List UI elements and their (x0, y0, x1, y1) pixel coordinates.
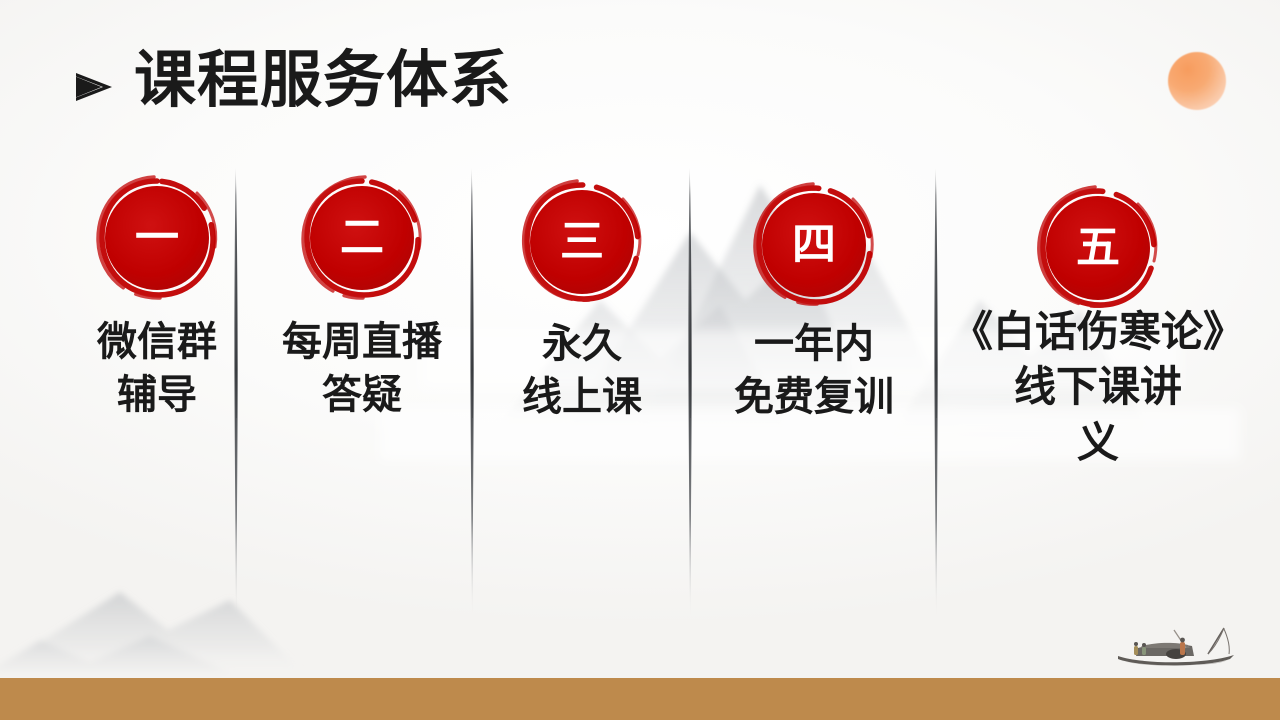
badge-wrap-4: 四 (700, 168, 928, 316)
badge-wrap-5: 五 (930, 168, 1266, 318)
service-column-2: 二 每周直播答疑 (258, 168, 466, 422)
badge-wrap-2: 二 (258, 168, 466, 308)
number-badge-1: 一 (102, 183, 212, 293)
badge-numeral-2: 二 (340, 216, 384, 260)
service-column-4: 四 一年内免费复训 (700, 168, 928, 424)
badge-numeral-4: 四 (792, 223, 836, 267)
service-label-5: 《白话伤寒论》线下课讲义 (930, 304, 1266, 470)
number-badge-4: 四 (759, 190, 869, 300)
service-column-3: 三 永久线上课 (478, 168, 686, 424)
number-badge-3: 三 (527, 187, 637, 297)
page-title-text: 课程服务体系 (134, 48, 512, 113)
page-title: 课程服务体系 (70, 48, 512, 113)
badge-numeral-5: 五 (1076, 226, 1120, 270)
footer-bar (0, 678, 1280, 720)
service-label-3: 永久线上课 (478, 318, 686, 424)
service-label-4: 一年内免费复训 (700, 318, 928, 424)
badge-numeral-1: 一 (135, 216, 179, 260)
service-columns: 一 微信群辅导 二 每周直播答疑 (0, 168, 1280, 628)
service-column-1: 一 微信群辅导 (62, 168, 252, 422)
sun-circle-icon (1168, 52, 1226, 110)
badge-wrap-1: 一 (62, 168, 252, 308)
badge-wrap-3: 三 (478, 168, 686, 316)
number-badge-5: 五 (1043, 193, 1153, 303)
number-badge-2: 二 (307, 183, 417, 293)
arrow-right-triangle-icon (70, 64, 116, 110)
slide-canvas: 课程服务体系 (0, 0, 1280, 720)
service-label-2: 每周直播答疑 (258, 316, 466, 422)
service-column-5: 五 《白话伤寒论》线下课讲义 (930, 168, 1266, 470)
service-label-1: 微信群辅导 (62, 316, 252, 422)
ink-wash-boat-icon (1112, 620, 1252, 678)
badge-numeral-3: 三 (560, 220, 604, 264)
